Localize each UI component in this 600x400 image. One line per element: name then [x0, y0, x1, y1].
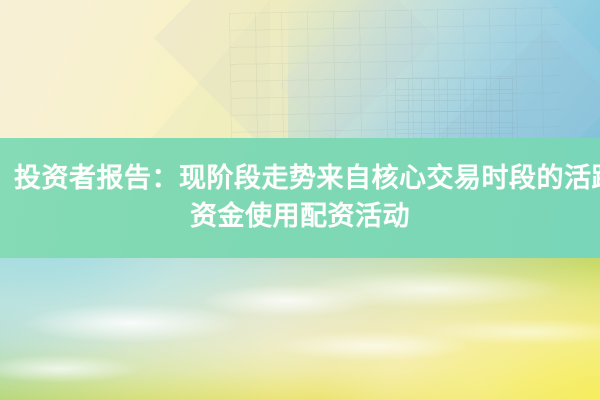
banner-image: 投资者报告：现阶段走势来自核心交易时段的活跃 资金使用配资活动 [0, 0, 600, 400]
background-cloud-texture [0, 258, 600, 400]
title-band: 投资者报告：现阶段走势来自核心交易时段的活跃 资金使用配资活动 [0, 138, 600, 258]
title-line-1: 投资者报告：现阶段走势来自核心交易时段的活跃 [6, 160, 600, 198]
title-line-2: 资金使用配资活动 [190, 198, 410, 236]
background-sky-right [288, 0, 600, 150]
